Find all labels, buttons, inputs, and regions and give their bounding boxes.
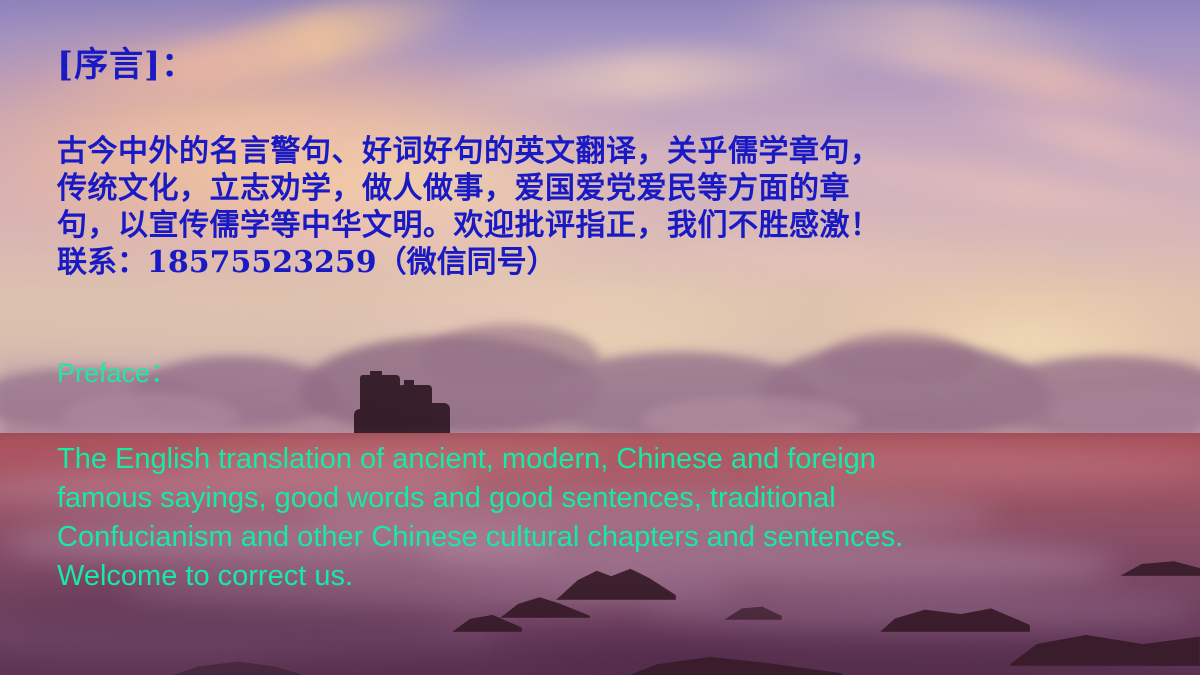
chinese-heading: [序言]： (57, 48, 196, 82)
english-paragraph: The English translation of ancient, mode… (57, 440, 1147, 596)
chinese-line-3: 句，以宣传儒学等中华文明。欢迎批评指正，我们不胜感激！ (57, 207, 1167, 244)
chinese-line-2: 传统文化，立志劝学，做人做事，爱国爱党爱民等方面的章 (57, 170, 1167, 207)
chinese-contact-line: 联系：18575523259（微信同号） (57, 244, 1167, 281)
english-line-2: famous sayings, good words and good sent… (57, 479, 1147, 518)
english-line-1: The English translation of ancient, mode… (57, 440, 1147, 479)
english-line-3: Confucianism and other Chinese cultural … (57, 518, 1147, 557)
chinese-line-1: 古今中外的名言警句、好词好句的英文翻译，关乎儒学章句， (57, 133, 1167, 170)
english-line-4: Welcome to correct us. (57, 557, 1147, 596)
chinese-paragraph: 古今中外的名言警句、好词好句的英文翻译，关乎儒学章句， 传统文化，立志劝学，做人… (57, 133, 1167, 281)
presentation-slide: [序言]： 古今中外的名言警句、好词好句的英文翻译，关乎儒学章句， 传统文化，立… (0, 0, 1200, 675)
english-heading: Preface： (57, 360, 177, 387)
slide-content: [序言]： 古今中外的名言警句、好词好句的英文翻译，关乎儒学章句， 传统文化，立… (0, 0, 1200, 675)
